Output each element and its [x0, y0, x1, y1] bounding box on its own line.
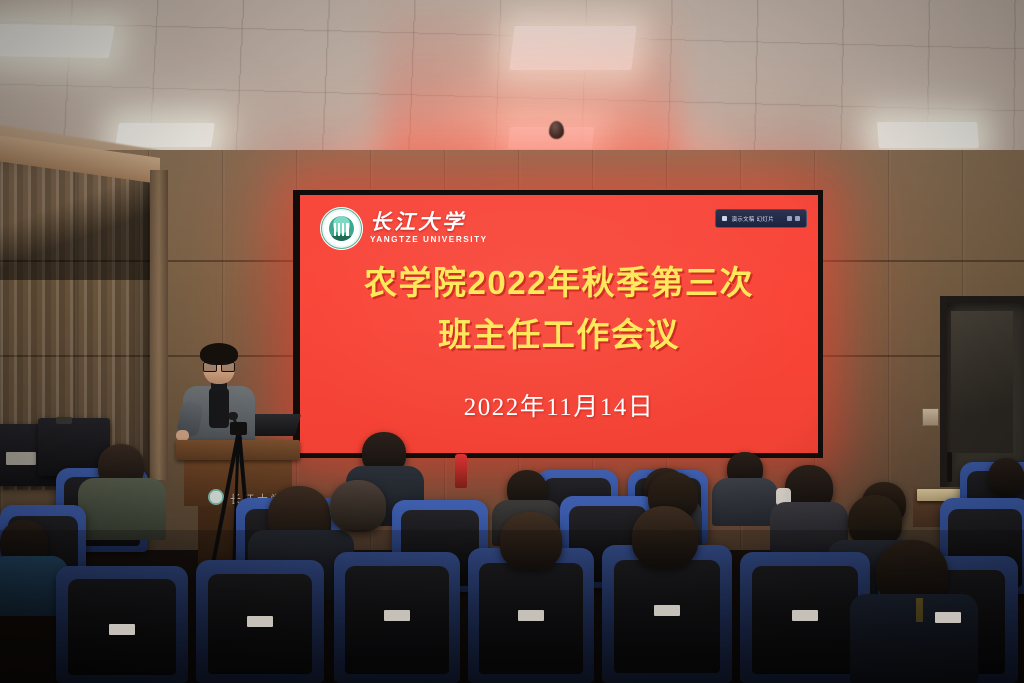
attendee-head [988, 458, 1024, 496]
seat-number-tag [384, 610, 410, 621]
seat-number-tag [109, 624, 135, 635]
university-name-cn: 长江大学 [370, 212, 488, 233]
university-name-en: YANGTZE UNIVERSITY [370, 236, 488, 244]
university-logo-block: 长江大学 YANGTZE UNIVERSITY [320, 207, 488, 250]
conference-room-photo: 长江大学 YANGTZE UNIVERSITY 演示文稿 幻灯片 农学院2022… [0, 0, 1024, 683]
ceiling-light-panel [115, 123, 215, 147]
wall-light-switch[interactable] [922, 408, 939, 426]
attendee-torso [850, 594, 978, 683]
seal-emblem [329, 216, 354, 241]
university-seal-icon [320, 207, 363, 250]
ceiling-light-panel [0, 24, 115, 58]
attendee-torso [712, 478, 778, 526]
attendee-torso [78, 478, 166, 540]
presentation-icon [722, 216, 727, 221]
presenter-glasses-icon [203, 362, 235, 370]
case-latch [56, 417, 72, 424]
attendee-head [500, 512, 562, 570]
case-label [6, 452, 36, 465]
toolbar-label: 演示文稿 幻灯片 [732, 215, 774, 223]
seat-number-tag [935, 612, 961, 623]
seat-number-tag [654, 605, 680, 616]
slide-date: 2022年11月14日 [300, 387, 818, 423]
attendee-head [632, 506, 698, 568]
close-icon[interactable] [795, 216, 800, 221]
attendee-head [330, 480, 386, 532]
presentation-screen[interactable]: 长江大学 YANGTZE UNIVERSITY 演示文稿 幻灯片 农学院2022… [300, 195, 818, 453]
dome-camera-icon [549, 121, 564, 139]
slide-title-line-2: 班主任工作会议 [300, 309, 818, 361]
seat-number-tag [247, 616, 273, 627]
toolbar-controls[interactable] [787, 216, 800, 221]
water-bottle [455, 454, 467, 488]
minimize-icon[interactable] [787, 216, 792, 221]
door-glass-panel [951, 311, 1013, 453]
microphone-head-icon [228, 412, 238, 420]
seat[interactable] [56, 566, 188, 683]
ceiling-light-panel [877, 122, 979, 148]
door-handle[interactable] [947, 452, 952, 482]
lanyard [916, 598, 923, 622]
presenter-inner-shirt [209, 388, 229, 428]
seat[interactable] [334, 552, 460, 683]
seat[interactable] [196, 560, 324, 683]
wall-column [150, 170, 168, 480]
slide-title: 农学院2022年秋季第三次 班主任工作会议 [300, 257, 818, 361]
slide-title-line-1: 农学院2022年秋季第三次 [300, 257, 818, 309]
presentation-toolbar[interactable]: 演示文稿 幻灯片 [715, 209, 807, 228]
camera-tripod-head [230, 422, 247, 435]
seat-number-tag [518, 610, 544, 621]
seat-number-tag [792, 610, 818, 621]
podium-seal-icon [208, 489, 224, 505]
